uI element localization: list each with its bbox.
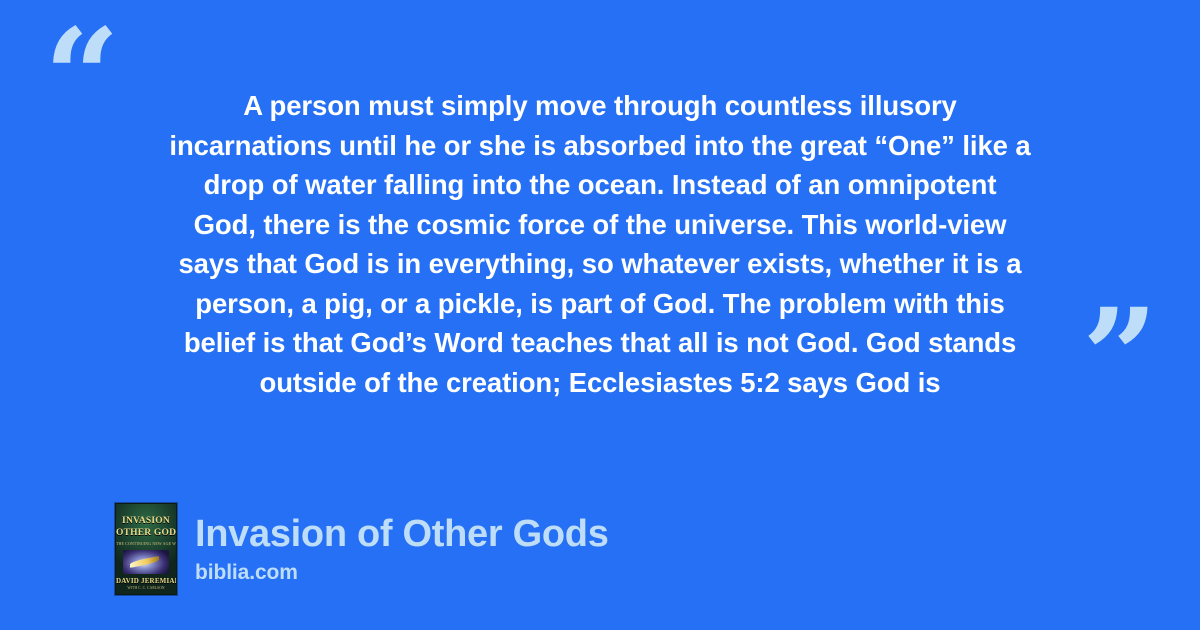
- quote-block: A person must simply move through countl…: [100, 86, 1100, 402]
- cover-title-line-1: INVASION: [116, 517, 176, 527]
- closing-quote-icon: ”: [1082, 292, 1158, 424]
- footer-text: Invasion of Other Gods biblia.com: [195, 513, 609, 585]
- quote-text: A person must simply move through countl…: [100, 86, 1100, 402]
- book-title[interactable]: Invasion of Other Gods: [195, 513, 609, 555]
- cover-author: DAVID JEREMIAH: [116, 577, 176, 585]
- quote-card: “ A person must simply move through coun…: [0, 0, 1200, 630]
- cover-subtitle: THE CONTINUING NEW AGE WORLDVIEW: [116, 541, 176, 546]
- cover-author-secondary: WITH C. C. CARLSON: [116, 586, 176, 590]
- book-cover-thumbnail[interactable]: INVASION OTHER GODS THE CONTINUING NEW A…: [115, 503, 177, 595]
- site-name[interactable]: biblia.com: [195, 561, 609, 585]
- footer: INVASION OTHER GODS THE CONTINUING NEW A…: [115, 503, 609, 595]
- cover-title-line-2: OTHER GODS: [116, 529, 176, 539]
- cover-artwork: [123, 550, 169, 574]
